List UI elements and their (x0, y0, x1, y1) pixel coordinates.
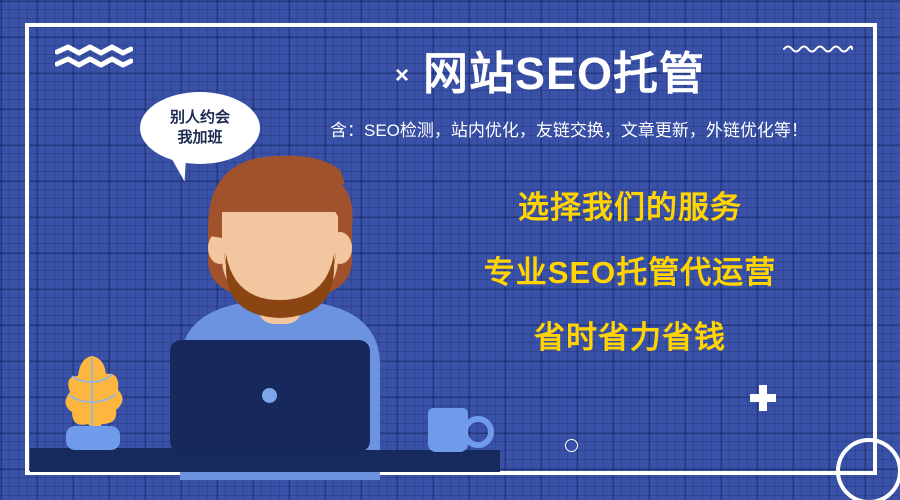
speech-bubble-line-1: 别人约会 (170, 108, 230, 128)
slogan-item: 省时省力省钱 (534, 322, 726, 353)
slogan-list: 选择我们的服务 专业SEO托管代运营 省时省力省钱 (430, 192, 830, 353)
plus-icon (750, 385, 776, 411)
slogan-item: 选择我们的服务 (518, 192, 742, 223)
speech-bubble: 别人约会 我加班 (140, 92, 260, 164)
desk (30, 450, 500, 472)
slogan-item: 专业SEO托管代运营 (484, 257, 776, 288)
corner-circle-icon (836, 438, 900, 500)
wave-top-right-icon (782, 42, 854, 54)
page-subtitle: 含：SEO检测，站内优化，友链交换，文章更新，外链优化等！ (330, 118, 890, 144)
page-title: 网站SEO托管 (423, 51, 705, 96)
speech-bubble-line-2: 我加班 (177, 128, 222, 148)
bullet-x-icon: × (395, 64, 409, 88)
seo-banner: × 网站SEO托管 含：SEO检测，站内优化，友链交换，文章更新，外链优化等！ … (0, 0, 900, 500)
laptop-logo-icon (262, 388, 277, 403)
wave-top-left-icon (55, 44, 133, 70)
coffee-mug (428, 408, 468, 452)
page-title-row: × 网站SEO托管 (330, 44, 770, 102)
potted-plant (58, 348, 128, 452)
small-circle-icon (565, 439, 578, 452)
